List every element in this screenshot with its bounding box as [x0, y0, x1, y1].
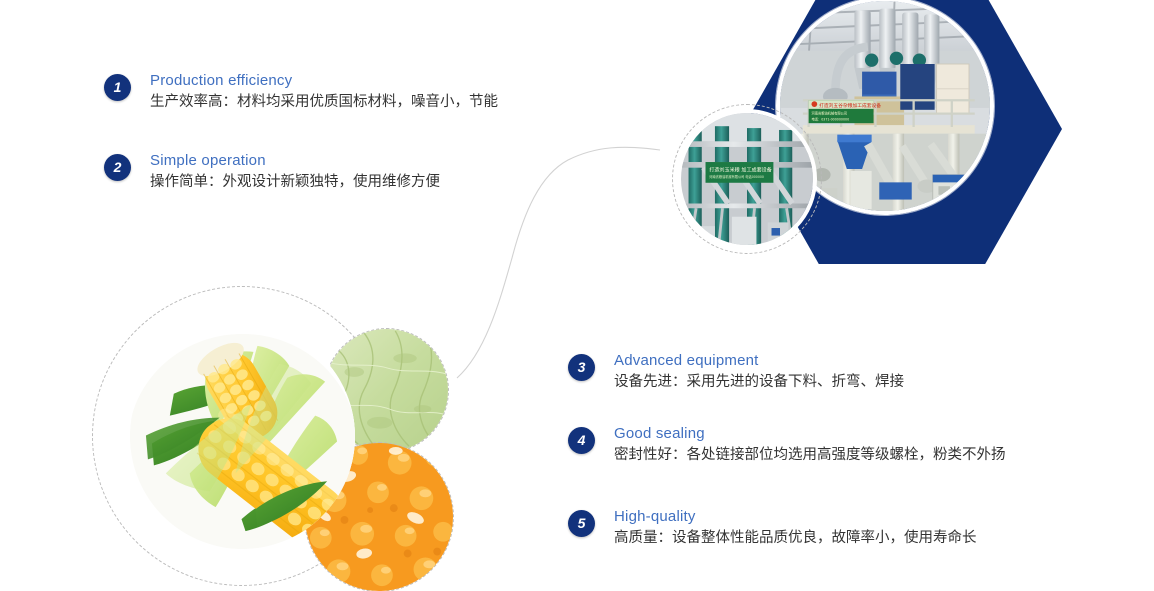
feature-text: Simple operation 操作简单：外观设计新颖独特，使用维修方便	[150, 152, 440, 193]
feature-item-5[interactable]: 5 High-quality 高质量：设备整体性能品质优良，故障率小，使用寿命长	[568, 508, 977, 549]
feature-number-badge: 5	[568, 510, 595, 537]
feature-number-badge: 4	[568, 427, 595, 454]
svg-text:打造刘玉米粮 加工成套设备: 打造刘玉米粮 加工成套设备	[709, 166, 772, 173]
feature-text: Good sealing 密封性好：各处链接部位均选用高强度等级螺栓，粉类不外扬	[614, 425, 1006, 466]
feature-body: 设备先进：采用先进的设备下料、折弯、焊接	[614, 372, 904, 393]
feature-heading: Advanced equipment	[614, 352, 904, 370]
feature-text: Production efficiency 生产效率高：材料均采用优质国标材料，…	[150, 72, 498, 113]
feature-item-1[interactable]: 1 Production efficiency 生产效率高：材料均采用优质国标材…	[104, 72, 498, 113]
feature-body: 密封性好：各处链接部位均选用高强度等级螺栓，粉类不外扬	[614, 445, 1006, 466]
corn-image-group	[92, 282, 482, 591]
feature-text: Advanced equipment 设备先进：采用先进的设备下料、折弯、焊接	[614, 352, 904, 393]
feature-item-2[interactable]: 2 Simple operation 操作简单：外观设计新颖独特，使用维修方便	[104, 152, 440, 193]
svg-text:电话：0371-000000000: 电话：0371-000000000	[812, 116, 850, 121]
hexagon-image-group: 打造刘五谷杂粮加工成套设备 河南省粮油机械有限公司 电话：0371-000000…	[742, 0, 1062, 264]
feature-heading: High-quality	[614, 508, 977, 526]
feature-body: 操作简单：外观设计新颖独特，使用维修方便	[150, 172, 440, 193]
fresh-corn-cob-photo	[130, 324, 355, 549]
feature-heading: Production efficiency	[150, 72, 498, 90]
feature-body: 高质量：设备整体性能品质优良，故障率小，使用寿命长	[614, 528, 977, 549]
svg-text:河南省粮油机械有限公司 电话000000: 河南省粮油机械有限公司 电话000000	[709, 174, 764, 179]
feature-text: High-quality 高质量：设备整体性能品质优良，故障率小，使用寿命长	[614, 508, 977, 549]
feature-number-badge: 3	[568, 354, 595, 381]
feature-heading: Good sealing	[614, 425, 1006, 443]
svg-text:河南省粮油机械有限公司: 河南省粮油机械有限公司	[812, 111, 848, 116]
feature-item-3[interactable]: 3 Advanced equipment 设备先进：采用先进的设备下料、折弯、焊…	[568, 352, 904, 393]
feature-number-badge: 1	[104, 74, 131, 101]
green-milling-machinery-photo: 打造刘玉米粮 加工成套设备 河南省粮油机械有限公司 电话000000	[677, 109, 817, 249]
feature-number-badge: 2	[104, 154, 131, 181]
feature-heading: Simple operation	[150, 152, 440, 170]
feature-body: 生产效率高：材料均采用优质国标材料，噪音小，节能	[150, 92, 498, 113]
feature-item-4[interactable]: 4 Good sealing 密封性好：各处链接部位均选用高强度等级螺栓，粉类不…	[568, 425, 1006, 466]
svg-text:打造刘五谷杂粮加工成套设备: 打造刘五谷杂粮加工成套设备	[819, 102, 881, 109]
feature-infographic: 打造刘五谷杂粮加工成套设备 河南省粮油机械有限公司 电话：0371-000000…	[0, 0, 1154, 591]
